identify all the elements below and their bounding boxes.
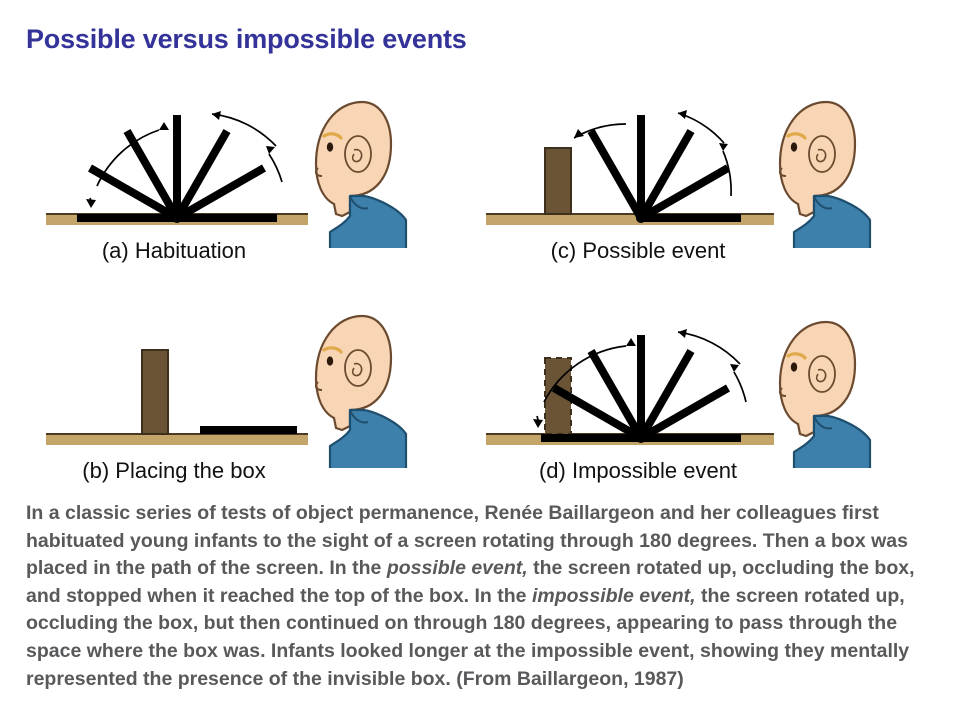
figure-impossible-event [478,306,938,468]
figure-possible-event [478,86,938,248]
occluding-box [142,350,168,434]
rotation-arrows [90,114,282,204]
description-paragraph: In a classic series of tests of object p… [26,500,936,693]
infant-profile [316,102,406,248]
panel-possible-event: (c) Possible event [478,86,938,286]
screen-pivot [172,213,182,223]
panel-placing-the-box: (b) Placing the box [14,306,474,506]
screen-bars [77,115,277,218]
figure-habituation [14,86,474,248]
page-title: Possible versus impossible events [26,24,467,55]
occluding-box [545,148,571,214]
infant-profile [780,322,870,468]
body-italic-possible-event: possible event, [387,557,528,579]
caption-possible-event: (c) Possible event [478,238,798,264]
screen-pivot [636,213,646,223]
screen-bars [591,115,741,218]
infant-profile [316,316,406,468]
ground-line [46,433,308,445]
panel-habituation: (a) Habituation [14,86,474,286]
caption-placing-the-box: (b) Placing the box [14,458,334,484]
panel-impossible-event: (d) Impossible event [478,306,938,506]
infant-profile [780,102,870,248]
screen-pivot [636,433,646,443]
caption-habituation: (a) Habituation [14,238,334,264]
figure-placing-the-box [14,306,474,468]
caption-impossible-event: (d) Impossible event [478,458,798,484]
body-italic-impossible-event: impossible event, [532,585,696,607]
